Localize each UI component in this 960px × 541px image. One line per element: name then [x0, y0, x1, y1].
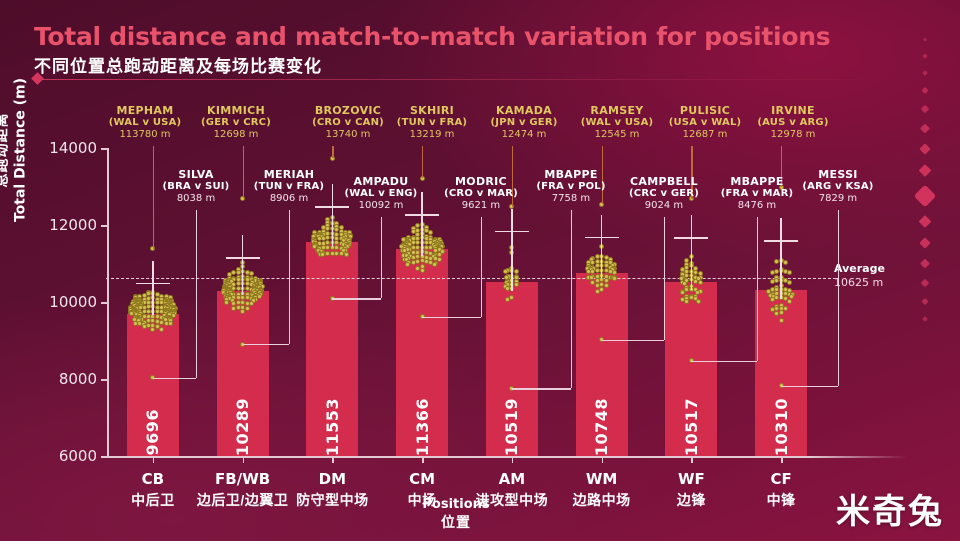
- annotation-min-fb-wb: MERIAH(TUN v FRA)8906 m: [254, 168, 324, 204]
- bar-wm[interactable]: 10748: [576, 273, 628, 456]
- annotation-leader-line: [571, 210, 572, 388]
- y-axis-title: 总跑动距离 Total Distance (m): [0, 78, 29, 222]
- rosette-icon: [922, 70, 928, 76]
- annotation-player-name: KAMADA: [491, 104, 558, 117]
- annotation-leader-line: [196, 210, 197, 378]
- x-axis-category-cm: CM中场: [408, 470, 437, 510]
- x-axis-line: [107, 456, 907, 458]
- x-category-chinese: 防守型中场: [296, 490, 369, 510]
- x-category-chinese: 边路中场: [573, 490, 631, 510]
- swarm-dot: [604, 278, 609, 283]
- whisker-line: [332, 184, 333, 246]
- swarm-dot: [783, 306, 788, 311]
- annotation-leader-line: [332, 298, 381, 299]
- swarm-dot: [696, 299, 701, 304]
- annotation-min-wm: CAMPBELL(CRC v GER)9024 m: [629, 175, 699, 211]
- x-axis-category-cf: CF中锋: [767, 470, 796, 510]
- x-axis-tick: [781, 456, 783, 463]
- annotation-max-cf: IRVINE(AUS v ARG)12978 m: [757, 104, 828, 140]
- annotation-leader-line: [602, 340, 664, 341]
- annotation-match: (JPN v GER): [491, 117, 558, 128]
- bar-wf[interactable]: 10517: [665, 282, 717, 456]
- bar-am[interactable]: 10519: [486, 282, 538, 456]
- x-axis-tick: [243, 456, 245, 463]
- page-title-chinese: 不同位置总跑动距离及每场比赛变化: [34, 52, 322, 77]
- x-category-chinese: 边锋: [677, 490, 706, 510]
- y-axis-tick: [101, 148, 108, 150]
- annotation-value: 12687 m: [669, 129, 742, 140]
- title-divider: [40, 79, 918, 80]
- annotation-match: (WAL v USA): [109, 117, 182, 128]
- annotation-leader-line: [422, 317, 481, 318]
- annotation-value: 113780 m: [109, 129, 182, 140]
- rosette-icon: [923, 53, 928, 58]
- average-reference-line: [106, 278, 836, 279]
- y-axis-title-english: Total Distance (m): [13, 78, 29, 222]
- rosette-icon: [919, 143, 930, 154]
- annotation-value: 13740 m: [312, 129, 384, 140]
- x-axis-category-wm: WM边路中场: [573, 470, 631, 510]
- annotation-match: (FRA v POL): [536, 181, 605, 192]
- swarm-dot: [159, 327, 164, 332]
- annotation-player-name: MBAPPE: [721, 175, 793, 188]
- swarm-dot: [787, 270, 792, 275]
- swarm-dot: [787, 280, 792, 285]
- annotation-value: 10092 m: [345, 200, 418, 211]
- average-label: Average10625 m: [834, 262, 885, 289]
- rosette-icon: [919, 237, 930, 248]
- annotation-max-cm: SKHIRI(TUN v FRA)13219 m: [397, 104, 467, 140]
- annotation-value: 9621 m: [444, 200, 518, 211]
- annotation-leader-line: [691, 361, 757, 362]
- annotation-leader-line: [838, 210, 839, 386]
- annotation-match: (ARG v KSA): [802, 181, 873, 192]
- swarm-dot: [774, 259, 779, 264]
- y-axis-tick: [101, 302, 108, 304]
- whisker-line: [691, 215, 692, 290]
- y-axis-tick-label: 8000: [59, 370, 97, 388]
- annotation-value: 8038 m: [163, 193, 230, 204]
- annotation-match: (CRO v MAR): [444, 188, 518, 199]
- swarm-dot: [789, 294, 794, 299]
- annotation-player-name: KIMMICH: [201, 104, 271, 117]
- x-axis-category-am: AM进攻型中场: [476, 470, 549, 510]
- annotation-match: (USA v WAL): [669, 117, 742, 128]
- x-axis-category-fb-wb: FB/WB边后卫/边翼卫: [197, 470, 288, 510]
- x-category-english: CM: [408, 470, 437, 488]
- x-category-english: FB/WB: [197, 470, 288, 488]
- whisker-line: [780, 218, 781, 299]
- annotation-leader-line: [332, 146, 333, 158]
- x-axis-tick: [153, 456, 155, 463]
- x-category-chinese: 进攻型中场: [476, 490, 549, 510]
- x-category-english: AM: [476, 470, 549, 488]
- swarm-dot: [231, 270, 236, 275]
- annotation-player-name: MBAPPE: [536, 168, 605, 181]
- annotation-player-name: MODRIC: [444, 175, 518, 188]
- rosette-icon: [922, 316, 928, 322]
- y-axis-tick: [101, 379, 108, 381]
- annotation-max-am: KAMADA(JPN v GER)12474 m: [491, 104, 558, 140]
- annotation-player-name: MESSI: [802, 168, 873, 181]
- bar-value-label: 10289: [233, 390, 252, 456]
- annotation-match: (TUN v FRA): [397, 117, 467, 128]
- annotation-min-cf: MESSI(ARG v KSA)7829 m: [802, 168, 873, 204]
- swarm-dot: [514, 269, 519, 274]
- bar-fb-wb[interactable]: 10289: [217, 291, 269, 456]
- swarm-dot: [236, 286, 241, 291]
- bar-cb[interactable]: 9696: [127, 314, 179, 456]
- y-axis-tick-label: 12000: [49, 216, 97, 234]
- annotation-min-am: MBAPPE(FRA v POL)7758 m: [536, 168, 605, 204]
- swarm-dot: [428, 230, 433, 235]
- annotation-leader-line: [422, 146, 423, 178]
- x-axis-tick: [332, 456, 334, 463]
- annotation-leader-line: [153, 146, 154, 249]
- swarm-dot: [783, 260, 788, 265]
- annotation-player-name: IRVINE: [757, 104, 828, 117]
- annotation-max-wf: PULISIC(USA v WAL)12687 m: [669, 104, 742, 140]
- annotation-leader-line: [381, 217, 382, 298]
- x-axis-category-wf: WF边锋: [677, 470, 706, 510]
- x-axis-tick: [691, 456, 693, 463]
- bar-value-label: 10310: [772, 390, 791, 456]
- rosette-icon: [920, 123, 930, 133]
- swarm-dot: [774, 306, 779, 311]
- annotation-match: (CRC v GER): [629, 188, 699, 199]
- whisker-line: [242, 235, 243, 295]
- whisker-line: [601, 215, 602, 279]
- x-category-chinese: 边后卫/边翼卫: [197, 490, 288, 510]
- annotation-leader-line: [153, 378, 196, 379]
- annotation-player-name: BROZOVIC: [312, 104, 384, 117]
- bar-dm[interactable]: 11553: [306, 242, 358, 456]
- x-axis-category-cb: CB中后卫: [131, 470, 175, 510]
- x-axis-tick: [602, 456, 604, 463]
- whisker-line: [511, 209, 512, 292]
- annotation-match: (CRO v CAN): [312, 117, 384, 128]
- x-category-english: CF: [767, 470, 796, 488]
- swarm-dot: [505, 297, 510, 302]
- annotation-leader-line: [512, 388, 571, 389]
- annotation-value: 12545 m: [581, 129, 654, 140]
- swarm-dot: [684, 299, 689, 304]
- annotation-match: (TUN v FRA): [254, 181, 324, 192]
- annotation-leader-line: [481, 217, 482, 317]
- whisker-line: [421, 192, 422, 256]
- x-category-english: DM: [296, 470, 369, 488]
- x-category-english: WF: [677, 470, 706, 488]
- annotation-max-wm: RAMSEY(WAL v USA)12545 m: [581, 104, 654, 140]
- rosette-icon: [914, 184, 937, 207]
- whisker-line: [152, 261, 153, 315]
- annotation-value: 13219 m: [397, 129, 467, 140]
- bar-value-label: 11553: [323, 390, 342, 456]
- rosette-icon: [920, 258, 930, 268]
- y-axis-tick-label: 10000: [49, 293, 97, 311]
- watermark: 米奇兔: [836, 484, 944, 533]
- x-axis-tick: [512, 456, 514, 463]
- bar-value-label: 10519: [502, 390, 521, 456]
- swarm-dot: [432, 262, 437, 267]
- decorative-rosette-column: [914, 38, 936, 308]
- swarm-dot: [168, 321, 173, 326]
- y-axis-title-chinese: 总跑动距离: [0, 113, 12, 188]
- y-axis-tick: [101, 456, 108, 458]
- annotation-leader-line: [289, 210, 290, 344]
- x-axis-title-chinese: 位置: [422, 512, 489, 532]
- swarm-dot: [415, 259, 420, 264]
- annotation-value: 8906 m: [254, 193, 324, 204]
- rosette-icon: [921, 86, 928, 93]
- swarm-dot: [774, 278, 779, 283]
- swarm-dot: [411, 260, 416, 265]
- swarm-dot: [770, 279, 775, 284]
- swarm-dot: [437, 257, 442, 262]
- annotation-player-name: AMPADU: [345, 175, 418, 188]
- annotation-value: 12698 m: [201, 129, 271, 140]
- swarm-dot: [514, 282, 519, 287]
- swarm-dot: [590, 269, 595, 274]
- x-axis-tick: [422, 456, 424, 463]
- x-category-chinese: 中锋: [767, 490, 796, 510]
- annotation-max-dm: BROZOVIC(CRO v CAN)13740 m: [312, 104, 384, 140]
- annotation-match: (FRA v MAR): [721, 188, 793, 199]
- annotation-match: (GER v CRC): [201, 117, 271, 128]
- bar-cm[interactable]: 11366: [396, 249, 448, 456]
- annotation-player-name: MEPHAM: [109, 104, 182, 117]
- x-axis-category-dm: DM防守型中场: [296, 470, 369, 510]
- annotation-leader-line: [757, 217, 758, 361]
- annotation-value: 12978 m: [757, 129, 828, 140]
- y-axis-tick-label: 6000: [59, 447, 97, 465]
- rosette-icon: [923, 37, 927, 41]
- page-title-english: Total distance and match-to-match variat…: [34, 22, 830, 51]
- swarm-dot: [133, 321, 138, 326]
- x-category-chinese: 中场: [408, 490, 437, 510]
- bar-value-label: 9696: [143, 401, 162, 456]
- annotation-min-dm: AMPADU(WAL v ENG)10092 m: [345, 175, 418, 211]
- swarm-dot: [595, 289, 600, 294]
- swarm-dot: [595, 268, 600, 273]
- x-category-chinese: 中后卫: [131, 490, 175, 510]
- annotation-leader-line: [243, 146, 244, 198]
- annotation-leader-line: [664, 217, 665, 340]
- swarm-dot: [599, 287, 604, 292]
- rosette-icon: [919, 215, 932, 228]
- swarm-dot: [415, 245, 420, 250]
- annotation-match: (BRA v SUI): [163, 181, 230, 192]
- rosette-icon: [921, 104, 929, 112]
- annotation-value: 9024 m: [629, 200, 699, 211]
- annotation-player-name: RAMSEY: [581, 104, 654, 117]
- swarm-dot: [142, 324, 147, 329]
- swarm-dot: [420, 268, 425, 273]
- x-category-english: CB: [131, 470, 175, 488]
- annotation-leader-line: [781, 386, 838, 387]
- swarm-dot: [770, 270, 775, 275]
- annotation-value: 12474 m: [491, 129, 558, 140]
- swarm-dot: [774, 269, 779, 274]
- annotation-player-name: SILVA: [163, 168, 230, 181]
- annotation-player-name: MERIAH: [254, 168, 324, 181]
- average-label-value: 10625 m: [834, 276, 885, 289]
- annotation-leader-line: [243, 344, 289, 345]
- x-category-english: WM: [573, 470, 631, 488]
- average-label-title: Average: [834, 262, 885, 275]
- annotation-min-cb: SILVA(BRA v SUI)8038 m: [163, 168, 230, 204]
- swarm-dot: [245, 306, 250, 311]
- rosette-icon: [921, 278, 929, 286]
- swarm-dot: [320, 252, 325, 257]
- rosette-icon: [921, 297, 928, 304]
- rosette-icon: [919, 164, 932, 177]
- swarm-dot: [604, 283, 609, 288]
- swarm-dot: [415, 223, 420, 228]
- swarm-dot: [240, 309, 245, 314]
- annotation-value: 7829 m: [802, 193, 873, 204]
- annotation-min-wf: MBAPPE(FRA v MAR)8476 m: [721, 175, 793, 211]
- annotation-value: 7758 m: [536, 193, 605, 204]
- annotation-value: 8476 m: [721, 200, 793, 211]
- chart-canvas: Total distance and match-to-match variat…: [0, 0, 960, 541]
- bar-value-label: 10517: [682, 390, 701, 456]
- annotation-max-cb: MEPHAM(WAL v USA)113780 m: [109, 104, 182, 140]
- bar-value-label: 11366: [413, 390, 432, 456]
- annotation-match: (WAL v USA): [581, 117, 654, 128]
- annotation-min-cm: MODRIC(CRO v MAR)9621 m: [444, 175, 518, 211]
- annotation-max-fb-wb: KIMMICH(GER v CRC)12698 m: [201, 104, 271, 140]
- y-axis-tick: [101, 225, 108, 227]
- y-axis-tick-label: 14000: [49, 139, 97, 157]
- annotation-player-name: CAMPBELL: [629, 175, 699, 188]
- bar-value-label: 10748: [592, 390, 611, 456]
- annotation-player-name: SKHIRI: [397, 104, 467, 117]
- annotation-match: (WAL v ENG): [345, 188, 418, 199]
- annotation-match: (AUS v ARG): [757, 117, 828, 128]
- annotation-player-name: PULISIC: [669, 104, 742, 117]
- swarm-dot: [224, 300, 229, 305]
- swarm-dot: [779, 318, 784, 323]
